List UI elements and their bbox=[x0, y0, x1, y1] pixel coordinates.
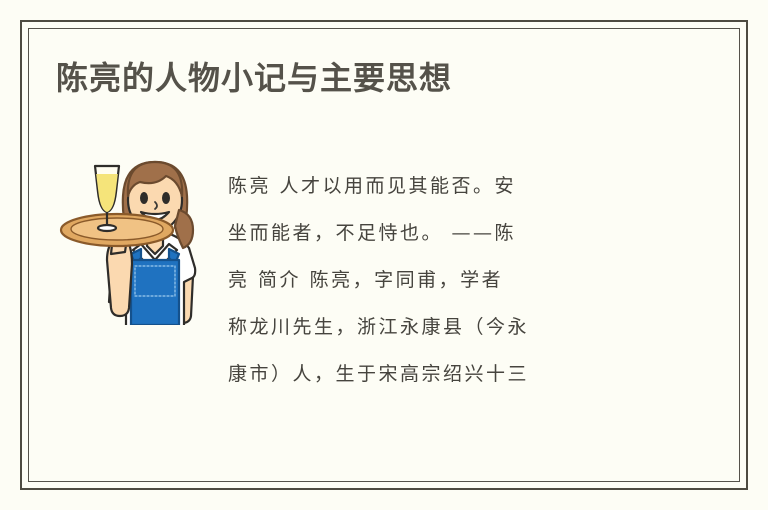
glass-base bbox=[98, 225, 116, 231]
page-title: 陈亮的人物小记与主要思想 bbox=[56, 58, 452, 98]
tray-inner-rim bbox=[71, 218, 163, 240]
body-line: 称龙川先生，浙江永康县（今永 bbox=[228, 304, 648, 351]
glass-liquid bbox=[96, 174, 118, 212]
right-eye bbox=[162, 192, 170, 204]
left-eye bbox=[140, 192, 148, 204]
body-line: 坐而能者，不足恃也。 ——陈 bbox=[228, 210, 648, 257]
body-line: 陈亮 人才以用而见其能否。安 bbox=[228, 163, 648, 210]
waitress-illustration bbox=[55, 140, 205, 325]
slide-canvas: 陈亮的人物小记与主要思想 bbox=[0, 0, 768, 510]
apron-body bbox=[131, 260, 179, 325]
body-line: 康市）人，生于宋高宗绍兴十三 bbox=[228, 351, 648, 398]
body-line: 亮 简介 陈亮，字同甫，学者 bbox=[228, 257, 648, 304]
body-text-block: 陈亮 人才以用而见其能否。安 坐而能者，不足恃也。 ——陈 亮 简介 陈亮，字同… bbox=[228, 163, 648, 398]
